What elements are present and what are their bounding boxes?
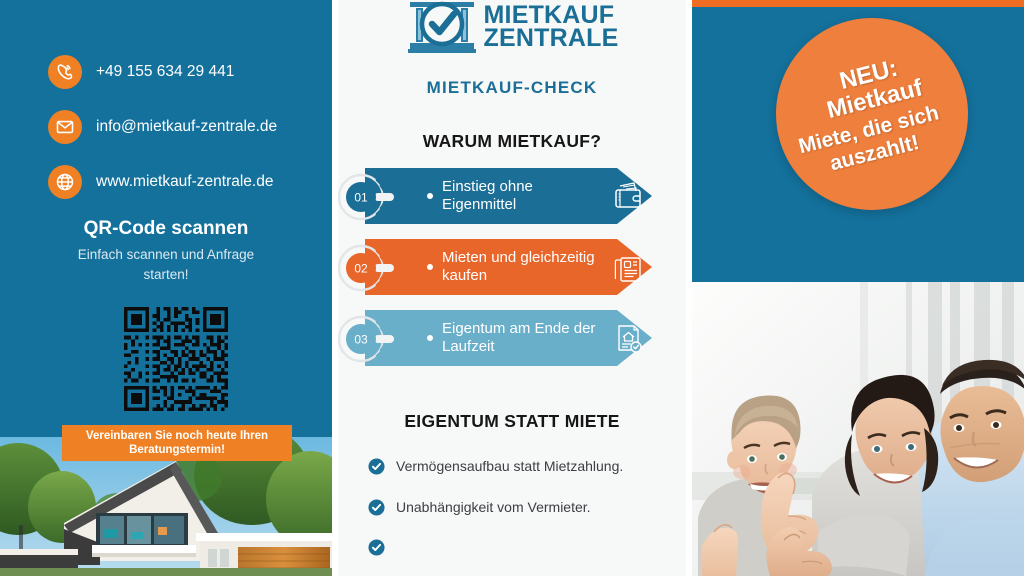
check-list-item: Unabhängigkeit vom Vermieter.: [368, 498, 678, 518]
benefit-row-01[interactable]: Einstieg ohne Eigenmittel: [338, 168, 686, 224]
appointment-cta-banner[interactable]: Vereinbaren Sie noch heute Ihren Beratun…: [62, 425, 292, 461]
bullet-dot: [427, 264, 433, 270]
contact-row-website[interactable]: www.mietkauf-zentrale.de: [48, 160, 328, 204]
step-badge-02: 02: [338, 243, 400, 293]
bullet-dot: [427, 193, 433, 199]
svg-text:03: 03: [354, 333, 368, 347]
qr-section-subtitle: Einfach scannen und Anfrage starten!: [56, 245, 276, 284]
step-badge-01: 01: [338, 172, 400, 222]
contact-row-phone[interactable]: +49 155 634 29 441: [48, 50, 328, 94]
logo-word-3: ZENTRALE: [484, 27, 619, 51]
benefit-arrow-body-02: Mieten und gleichzeitig kaufen: [365, 239, 652, 295]
check-list-item: Vermögensaufbau statt Mietzahlung.: [368, 457, 678, 477]
contact-list: +49 155 634 29 441 info@mietkauf-zentral…: [48, 50, 328, 215]
contact-panel: KONTAKT-INFORMATION +49 155 634 29 441: [0, 0, 332, 576]
bullet-dot: [427, 335, 433, 341]
envelope-icon: [48, 110, 82, 144]
website-url: www.mietkauf-zentrale.de: [96, 173, 273, 191]
benefit-row-03[interactable]: Eigentum am Ende der Laufzeit: [338, 310, 686, 366]
step-badge-03: 03: [338, 314, 400, 364]
logo-tagline: MIETKAUF-CHECK: [338, 78, 686, 98]
content-panel: DIE MIETKAUF ZENTRALE MIETKAUF-CHECK WAR…: [338, 0, 686, 576]
contact-row-email[interactable]: info@mietkauf-zentrale.de: [48, 105, 328, 149]
benefit-arrow-body-01: Einstieg ohne Eigenmittel: [365, 168, 652, 224]
check-list-item-text: Vermögensaufbau statt Mietzahlung.: [396, 457, 623, 477]
check-list-item-text: Unabhängigkeit vom Vermieter.: [396, 498, 591, 518]
svg-text:01: 01: [354, 191, 368, 205]
qr-section-title: QR-Code scannen: [0, 218, 332, 240]
benefit-row-02[interactable]: Mieten und gleichzeitig kaufen: [338, 239, 686, 295]
check-circle-icon: [368, 539, 385, 556]
svg-text:02: 02: [354, 262, 368, 276]
benefit-text-01: Einstieg ohne Eigenmittel: [442, 178, 608, 215]
benefit-text-03: Eigentum am Ende der Laufzeit: [442, 320, 608, 357]
qr-code[interactable]: [124, 307, 228, 411]
email-address: info@mietkauf-zentrale.de: [96, 118, 277, 136]
benefit-arrow-body-03: Eigentum am Ende der Laufzeit: [365, 310, 652, 366]
check-circle-icon: [368, 499, 385, 516]
benefit-arrow-list: Einstieg ohne Eigenmittel: [338, 168, 686, 381]
family-thumbs-up-photo: [692, 282, 1024, 576]
logo: DIE MIETKAUF ZENTRALE: [338, 0, 686, 54]
globe-icon: [48, 165, 82, 199]
contact-panel-heading: KONTAKT-INFORMATION: [0, 0, 332, 4]
section-title-eigentum-statt-miete: EIGENTUM STATT MIETE: [338, 411, 686, 432]
bank-building-check-icon: [406, 0, 478, 54]
house-contract-check-icon: [612, 322, 644, 354]
top-orange-stripe: [692, 0, 1024, 7]
check-circle-icon: [368, 458, 385, 475]
neu-highlight-badge: NEU: Mietkauf Miete, die sich auszahlt!: [776, 18, 968, 210]
brochure-page: KONTAKT-INFORMATION +49 155 634 29 441: [0, 0, 1024, 576]
documents-icon: [612, 251, 644, 283]
phone-icon: [48, 55, 82, 89]
highlight-panel: NEU: Mietkauf Miete, die sich auszahlt!: [692, 0, 1024, 576]
check-list-item-partial: [368, 538, 678, 556]
phone-number: +49 155 634 29 441: [96, 63, 234, 81]
advantage-check-list: Vermögensaufbau statt Mietzahlung. Unabh…: [368, 457, 678, 576]
wallet-money-icon: [612, 180, 644, 212]
section-title-warum-mietkauf: WARUM MIETKAUF?: [338, 131, 686, 152]
benefit-text-02: Mieten und gleichzeitig kaufen: [442, 249, 608, 286]
logo-wordmark: DIE MIETKAUF ZENTRALE: [484, 0, 619, 51]
